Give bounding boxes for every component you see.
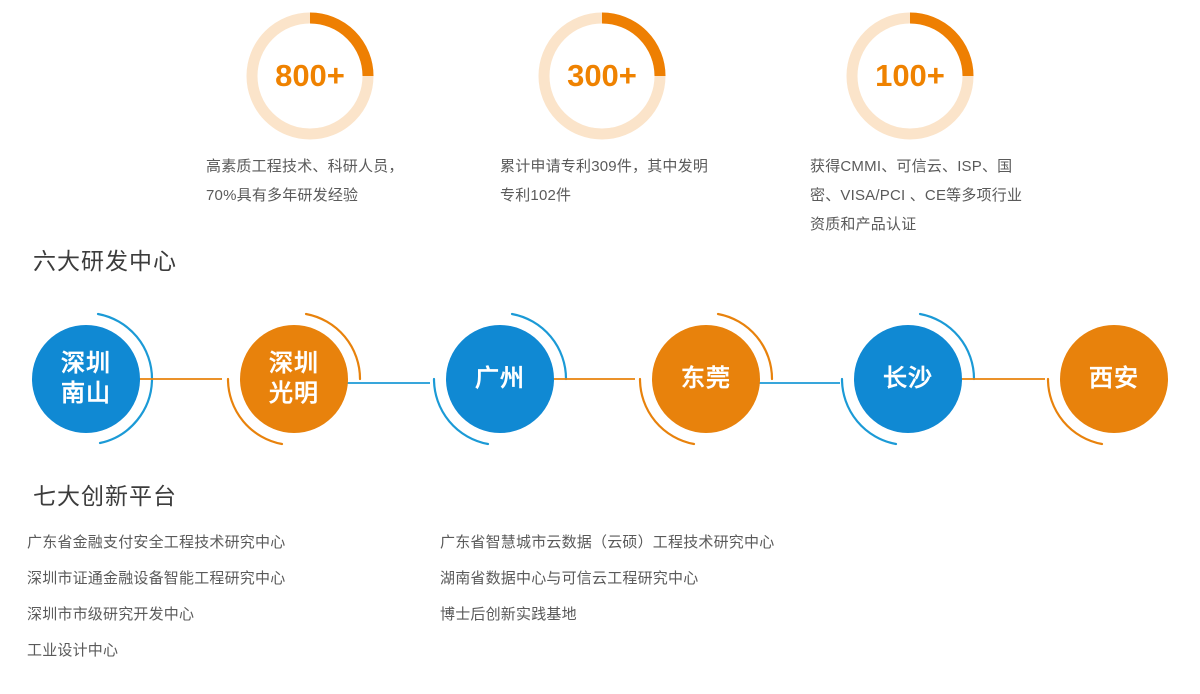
platforms-column-left: 广东省金融支付安全工程技术研究中心 深圳市证通金融设备智能工程研究中心 深圳市市… — [27, 525, 285, 669]
platform-item: 深圳市市级研究开发中心 — [27, 597, 285, 633]
center-node-shenzhen-nanshan[interactable]: 深圳 南山 — [32, 325, 140, 433]
center-node-guangzhou[interactable]: 广州 — [446, 325, 554, 433]
stat-caption: 累计申请专利309件，其中发明 专利102件 — [500, 152, 760, 210]
centers-section-heading: 六大研发中心 — [33, 242, 177, 276]
platform-item: 深圳市证通金融设备智能工程研究中心 — [27, 561, 285, 597]
platforms-column-right: 广东省智慧城市云数据（云硕）工程技术研究中心 湖南省数据中心与可信云工程研究中心… — [440, 525, 774, 633]
platform-item: 博士后创新实践基地 — [440, 597, 774, 633]
centers-connectors — [0, 295, 1200, 470]
center-node-dongguan[interactable]: 东莞 — [652, 325, 760, 433]
platform-item: 工业设计中心 — [27, 633, 285, 669]
platform-item: 广东省金融支付安全工程技术研究中心 — [27, 525, 285, 561]
stat-value: 800+ — [246, 12, 374, 140]
stats-band: 800+ 高素质工程技术、科研人员， 70%具有多年研发经验 300+ 累计申请… — [0, 0, 1200, 240]
platform-item: 湖南省数据中心与可信云工程研究中心 — [440, 561, 774, 597]
platform-item: 广东省智慧城市云数据（云硕）工程技术研究中心 — [440, 525, 774, 561]
stat-caption: 获得CMMI、可信云、ISP、国 密、VISA/PCI 、CE等多项行业 资质和… — [810, 152, 1050, 239]
centers-row: 深圳 南山 深圳 光明 广州 东莞 长沙 西安 — [0, 295, 1200, 470]
center-node-shenzhen-guangming[interactable]: 深圳 光明 — [240, 325, 348, 433]
platforms-section-heading: 七大创新平台 — [33, 477, 177, 511]
stat-caption: 高素质工程技术、科研人员， 70%具有多年研发经验 — [206, 152, 456, 210]
center-node-changsha[interactable]: 长沙 — [854, 325, 962, 433]
stat-value: 300+ — [538, 12, 666, 140]
stat-value: 100+ — [846, 12, 974, 140]
center-node-xian[interactable]: 西安 — [1060, 325, 1168, 433]
